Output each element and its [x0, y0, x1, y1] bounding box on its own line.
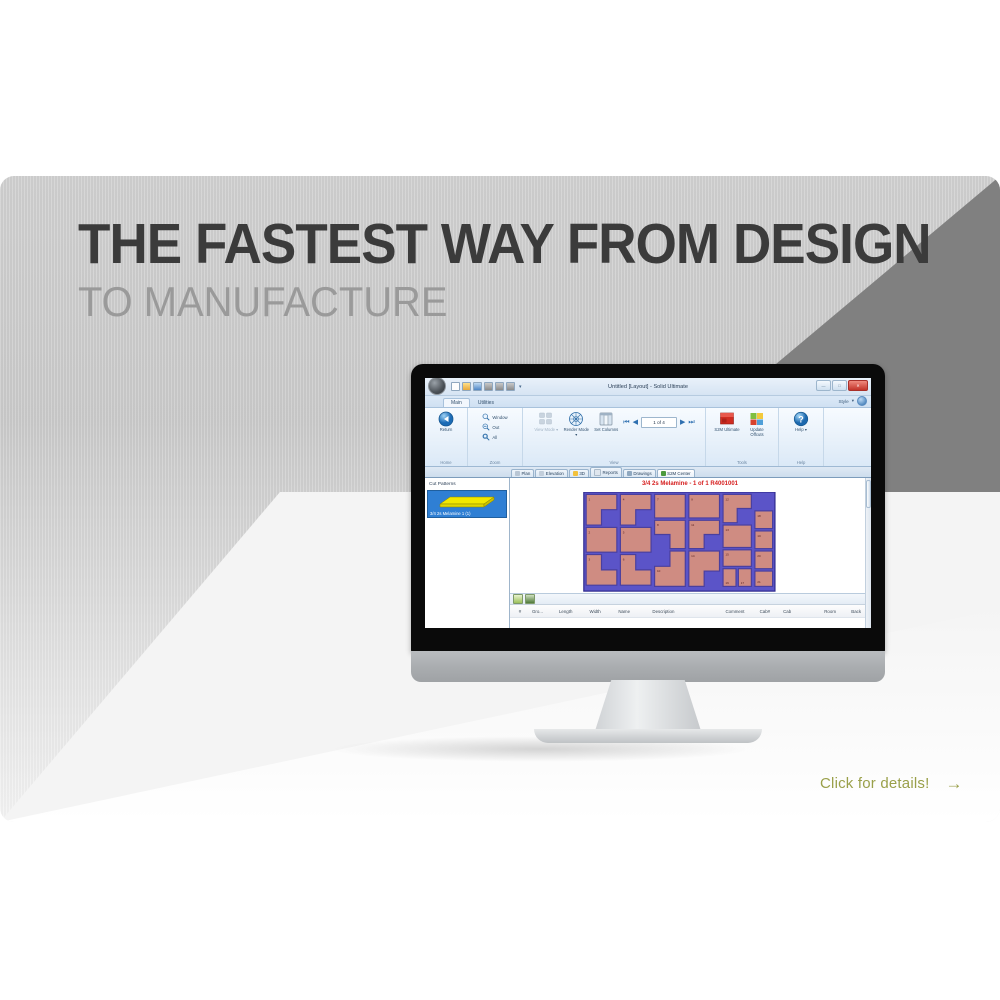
nesting-diagram: 147 912 811 2513 36 1014 151617 1819 [578, 492, 802, 593]
help-button[interactable]: ? Help ▾ [788, 411, 814, 433]
cut-pattern-canvas[interactable]: 3/4 2s Melamine - 1 of 1 R4001001 [510, 478, 871, 593]
sidebar-item-cut-pattern[interactable]: 3/4 2s Melamine 1 (1) [427, 490, 507, 518]
zoom-window-label: Window [492, 415, 507, 420]
maximize-button[interactable]: □ [832, 380, 847, 391]
zoom-all-label: All [492, 435, 497, 440]
column-header-index[interactable]: # [510, 609, 530, 614]
export-grid-icon[interactable] [525, 594, 535, 604]
update-offcuts-button[interactable]: Update Offcuts [744, 411, 770, 438]
help-label: Help ▾ [795, 428, 807, 433]
grid-toolbar [510, 593, 871, 604]
elevation-icon [539, 471, 544, 476]
svg-text:10: 10 [657, 569, 661, 573]
window-controls: — □ ✕ [816, 380, 868, 391]
monitor-bezel: ▾ Untitled [Layout] - Solid Ultimate — □… [411, 364, 885, 652]
column-header-group[interactable]: Gro... [530, 609, 557, 614]
style-menu[interactable]: Style ▾ [838, 396, 867, 406]
svg-text:7: 7 [657, 497, 659, 501]
group-label-view: View [523, 460, 705, 465]
sheet-thumbnail-icon [436, 493, 498, 510]
svg-text:16: 16 [725, 581, 729, 585]
return-label: Return [440, 428, 453, 433]
column-header-name[interactable]: Name [616, 609, 650, 614]
zoom-window-icon [482, 413, 490, 421]
s2m-center-icon [661, 471, 666, 476]
tab-s2m-center[interactable]: S2M Center [657, 469, 695, 477]
svg-text:1: 1 [589, 497, 591, 501]
zoom-window-button[interactable]: Window [482, 413, 507, 421]
help-question-icon: ? [793, 411, 809, 427]
group-label-zoom: Zoom [468, 460, 522, 465]
pattern-title: 3/4 2s Melamine - 1 of 1 R4001001 [642, 481, 738, 487]
return-button[interactable]: Return [433, 411, 459, 433]
previous-page-button[interactable]: ◀ [633, 419, 638, 427]
document-tab-strip: Plan Elevation 3D Reports [425, 467, 871, 478]
tab-s2m-center-label: S2M Center [667, 471, 690, 476]
s2m-ultimate-button[interactable]: S2M Ultimate [714, 411, 740, 433]
ribbon-tab-row: Main Utilities Style ▾ [425, 396, 871, 408]
svg-text:?: ? [798, 415, 804, 425]
help-orb-icon[interactable] [857, 396, 867, 406]
view-mode-icon [538, 411, 554, 427]
column-header-cabnum[interactable]: Cab# [758, 609, 781, 614]
group-label-tools: Tools [706, 460, 778, 465]
monitor-stand-base [534, 729, 762, 743]
set-columns-icon [598, 411, 614, 427]
render-mode-icon [568, 411, 584, 427]
tab-plan-label: Plan [522, 471, 531, 476]
tab-elevation[interactable]: Elevation [535, 469, 568, 477]
tab-drawings-label: Drawings [633, 471, 651, 476]
render-mode-label: Render Mode ▾ [563, 428, 589, 438]
zoom-out-icon [482, 423, 490, 431]
nesting-svg: 147 912 811 2513 36 1014 151617 1819 [578, 492, 802, 593]
svg-text:4: 4 [623, 497, 625, 501]
ribbon-tab-main[interactable]: Main [443, 398, 470, 407]
view-mode-button[interactable]: View Mode ▾ [533, 411, 559, 433]
svg-text:8: 8 [657, 523, 659, 527]
zoom-all-button[interactable]: All [482, 433, 507, 441]
style-label: Style [838, 399, 848, 404]
first-page-button[interactable]: ⏮ [623, 419, 629, 427]
zoom-all-icon [482, 433, 490, 441]
s2m-ultimate-label: S2M Ultimate [714, 428, 739, 433]
set-columns-button[interactable]: Set Columns [593, 411, 619, 433]
column-header-room[interactable]: Room [822, 609, 849, 614]
column-header-comment[interactable]: Comment [723, 609, 757, 614]
headline-primary: THE FASTEST WAY FROM DESIGN [78, 215, 850, 273]
export-excel-icon[interactable] [513, 594, 523, 604]
tab-3d-label: 3D [579, 471, 585, 476]
svg-text:9: 9 [691, 497, 693, 501]
next-page-button[interactable]: ▶ [680, 419, 685, 427]
svg-text:19: 19 [757, 534, 761, 538]
ribbon-tab-utilities[interactable]: Utilities [470, 398, 502, 407]
monitor-stand-neck [594, 680, 702, 734]
view-mode-label: View Mode ▾ [534, 428, 558, 433]
zoom-out-label: Out [492, 425, 499, 430]
ribbon-group-tools: S2M Ultimate Update Offcut [706, 408, 779, 466]
svg-text:13: 13 [725, 528, 729, 532]
headline-block: THE FASTEST WAY FROM DESIGN TO MANUFACTU… [78, 215, 908, 325]
group-label-home: Home [425, 460, 467, 465]
chevron-down-icon: ▾ [852, 398, 854, 404]
monitor-screen: ▾ Untitled [Layout] - Solid Ultimate — □… [425, 378, 871, 628]
svg-text:2: 2 [589, 530, 591, 534]
svg-text:12: 12 [725, 497, 729, 501]
svg-text:14: 14 [691, 554, 695, 558]
scrollbar-thumb[interactable] [866, 480, 871, 508]
ribbon-group-zoom: Window Out [468, 408, 523, 466]
svg-text:5: 5 [623, 530, 625, 534]
tab-plan[interactable]: Plan [511, 469, 534, 477]
ribbon-group-view: View Mode ▾ Render Mode ▾ [523, 408, 706, 466]
ribbon-group-home: Return Home [425, 408, 468, 466]
sidebar-title: Cut Patterns [425, 478, 509, 490]
tab-reports-label: Reports [602, 470, 617, 475]
svg-text:3: 3 [589, 557, 591, 561]
zoom-out-button[interactable]: Out [482, 423, 507, 431]
cube-3d-icon [573, 471, 578, 476]
tab-elevation-label: Elevation [546, 471, 564, 476]
group-label-help: Help [779, 460, 823, 465]
svg-text:21: 21 [757, 580, 761, 584]
plan-icon [515, 471, 520, 476]
update-offcuts-label: Update Offcuts [744, 428, 770, 438]
render-mode-button[interactable]: Render Mode ▾ [563, 411, 589, 438]
svg-text:17: 17 [741, 581, 745, 585]
column-header-description[interactable]: Description [650, 609, 723, 614]
canvas-area: 3/4 2s Melamine - 1 of 1 R4001001 [510, 478, 871, 628]
parts-grid-header: # Gro... Length Width Name Description C… [510, 604, 871, 617]
headline-secondary: TO MANUFACTURE [78, 279, 867, 325]
drawings-icon [627, 471, 632, 476]
column-header-width[interactable]: Width [588, 609, 617, 614]
svg-text:6: 6 [623, 557, 625, 561]
slide-canvas: THE FASTEST WAY FROM DESIGN TO MANUFACTU… [0, 0, 1000, 1000]
update-offcuts-icon [749, 411, 765, 427]
parts-grid-rows[interactable] [510, 617, 871, 628]
ribbon-group-help: ? Help ▾ Help [779, 408, 824, 466]
svg-text:20: 20 [757, 554, 761, 558]
sidebar-item-label: 3/4 2s Melamine 1 (1) [428, 510, 506, 517]
column-header-length[interactable]: Length [557, 609, 588, 614]
column-header-cab[interactable]: Cab [781, 609, 822, 614]
cut-patterns-sidebar: Cut Patterns 3/4 2s Melamine 1 (1) [425, 478, 510, 628]
imac-monitor: ▾ Untitled [Layout] - Solid Ultimate — □… [411, 364, 885, 694]
reports-icon [594, 469, 601, 476]
monitor-chin [411, 651, 885, 682]
tab-3d[interactable]: 3D [569, 469, 589, 477]
svg-text:15: 15 [725, 553, 729, 557]
click-for-details-link[interactable]: Click for details! → [820, 775, 962, 792]
workspace: Cut Patterns 3/4 2s Melamine 1 (1) [425, 478, 871, 628]
page-indicator[interactable]: 1 of 4 [641, 417, 677, 428]
cta-label: Click for details! [820, 775, 929, 792]
s2m-ultimate-icon [719, 411, 735, 427]
svg-text:18: 18 [757, 514, 761, 518]
ribbon-toolbar: Return Home [425, 408, 871, 467]
canvas-vertical-scrollbar[interactable] [865, 478, 871, 628]
minimize-button[interactable]: — [816, 380, 831, 391]
solid-ultimate-application: ▾ Untitled [Layout] - Solid Ultimate — □… [425, 378, 871, 628]
svg-text:11: 11 [691, 523, 694, 527]
last-page-button[interactable]: ⏭ [688, 419, 694, 427]
tab-reports[interactable]: Reports [590, 467, 622, 477]
page-navigator: ⏮ ◀ 1 of 4 ▶ ⏭ [623, 411, 694, 428]
close-button[interactable]: ✕ [848, 380, 868, 391]
return-arrow-icon [438, 411, 454, 427]
set-columns-label: Set Columns [594, 428, 618, 433]
arrow-right-icon: → [945, 775, 962, 792]
window-title: Untitled [Layout] - Solid Ultimate [425, 384, 871, 390]
window-titlebar: ▾ Untitled [Layout] - Solid Ultimate — □… [425, 378, 871, 396]
tab-drawings[interactable]: Drawings [623, 469, 656, 477]
